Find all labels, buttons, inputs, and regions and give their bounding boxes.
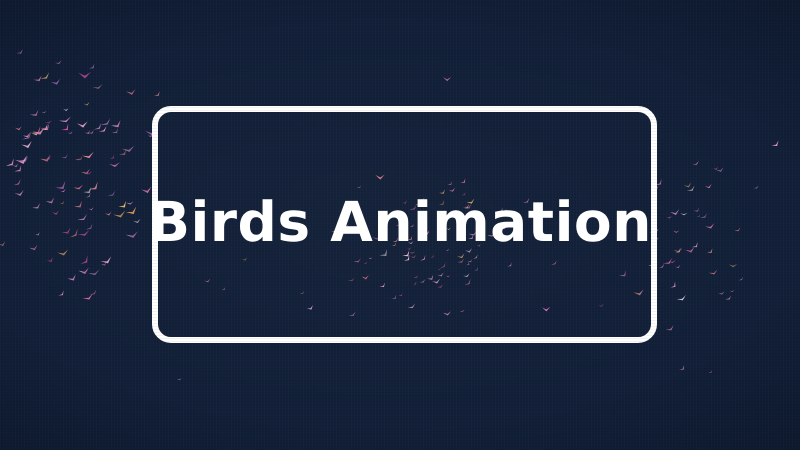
bird-particle — [61, 123, 71, 133]
bird-particle — [113, 211, 127, 220]
bird-particle — [55, 60, 63, 65]
bird-particle — [709, 370, 714, 374]
bird-particle — [680, 213, 688, 216]
bird-particle — [713, 167, 719, 171]
bird-particle — [109, 162, 121, 168]
bird-particle — [0, 241, 7, 247]
bird-particle — [59, 201, 65, 206]
bird-particle — [55, 181, 69, 193]
bird-particle — [30, 110, 41, 119]
title-text: Birds Animation — [148, 195, 652, 250]
bird-particle — [734, 227, 741, 232]
bird-particle — [13, 179, 22, 187]
bird-particle — [31, 126, 44, 138]
bird-particle — [666, 325, 676, 333]
bird-particle — [52, 211, 60, 216]
bird-particle — [692, 161, 700, 167]
bird-particle — [77, 214, 88, 223]
bird-particle — [82, 152, 95, 160]
bird-particle — [85, 130, 91, 135]
bird-particle — [684, 182, 693, 189]
bird-particle — [83, 294, 95, 302]
bird-particle — [122, 146, 136, 154]
bird-particle — [443, 77, 451, 82]
bird-particle — [126, 231, 139, 239]
bird-particle — [154, 91, 162, 98]
bird-particle — [674, 248, 684, 254]
bird-particle — [694, 207, 701, 213]
bird-particle — [105, 211, 112, 216]
bird-particle — [86, 223, 95, 231]
bird-particle — [29, 245, 39, 252]
bird-particle — [61, 154, 69, 160]
bird-particle — [88, 270, 100, 277]
bird-particle — [84, 102, 91, 107]
bird-particle — [677, 295, 688, 302]
bird-particle — [45, 120, 52, 124]
bird-particle — [12, 163, 19, 168]
bird-particle — [78, 268, 90, 276]
bird-particle — [33, 75, 43, 83]
bird-particle — [725, 295, 732, 301]
bird-particle — [40, 154, 52, 163]
bird-particle — [667, 216, 673, 219]
bird-particle — [718, 291, 725, 295]
bird-particle — [126, 89, 136, 96]
bird-particle — [110, 155, 116, 160]
bird-particle — [51, 79, 62, 86]
bird-particle — [60, 189, 66, 193]
bird-particle — [85, 171, 93, 175]
bird-particle — [14, 190, 25, 197]
bird-particle — [705, 223, 716, 230]
bird-particle — [659, 264, 665, 270]
bird-particle — [80, 255, 91, 267]
bird-particle — [709, 270, 719, 277]
bird-particle — [89, 182, 101, 193]
bird-particle — [67, 274, 77, 282]
bird-particle — [59, 116, 72, 124]
bird-particle — [63, 108, 69, 111]
bird-particle — [70, 229, 80, 240]
bird-particle — [35, 232, 41, 237]
bird-particle — [730, 290, 735, 293]
bird-particle — [716, 167, 725, 173]
bird-particle — [679, 365, 686, 372]
bird-particle — [78, 72, 91, 79]
bird-particle — [670, 282, 677, 290]
bird-particle — [74, 185, 84, 191]
bird-particle — [126, 201, 133, 205]
bird-particle — [112, 128, 121, 136]
bird-particle — [57, 249, 69, 257]
bird-particle — [41, 111, 47, 114]
bird-particle — [81, 169, 91, 176]
bird-particle — [46, 197, 56, 205]
bird-particle — [58, 290, 66, 297]
bird-particle — [16, 49, 24, 56]
bird-particle — [6, 158, 17, 169]
bird-particle — [47, 257, 55, 264]
bird-particle — [101, 118, 113, 128]
bird-particle — [739, 277, 744, 282]
bird-particle — [83, 187, 94, 196]
bird-particle — [177, 378, 182, 380]
bird-particle — [670, 209, 680, 216]
bird-particle — [118, 201, 128, 210]
bird-particle — [77, 121, 89, 128]
bird-particle — [32, 203, 42, 211]
bird-particle — [133, 219, 141, 224]
bird-particle — [108, 190, 117, 198]
bird-particle — [61, 227, 72, 236]
bird-particle — [21, 141, 33, 150]
bird-particle — [78, 156, 84, 162]
bird-particle — [111, 120, 123, 130]
bird-particle — [74, 201, 85, 211]
bird-particle — [93, 84, 104, 90]
bird-particle — [675, 265, 682, 270]
bird-particle — [88, 207, 94, 211]
bird-particle — [705, 184, 713, 190]
bird-particle — [78, 230, 91, 238]
bird-particle — [89, 64, 96, 71]
bird-particle — [754, 186, 760, 190]
bird-particle — [68, 131, 74, 136]
bird-particle — [673, 230, 679, 233]
bird-particle — [729, 264, 738, 268]
bird-particle — [707, 248, 714, 255]
title-card-canvas: Birds Animation — [0, 0, 800, 450]
bird-particle — [40, 72, 51, 81]
bird-particle — [771, 140, 780, 148]
bird-particle — [700, 213, 708, 220]
bird-particle — [685, 247, 696, 255]
bird-particle — [85, 193, 92, 200]
bird-particle — [126, 206, 139, 216]
bird-particle — [15, 126, 22, 131]
